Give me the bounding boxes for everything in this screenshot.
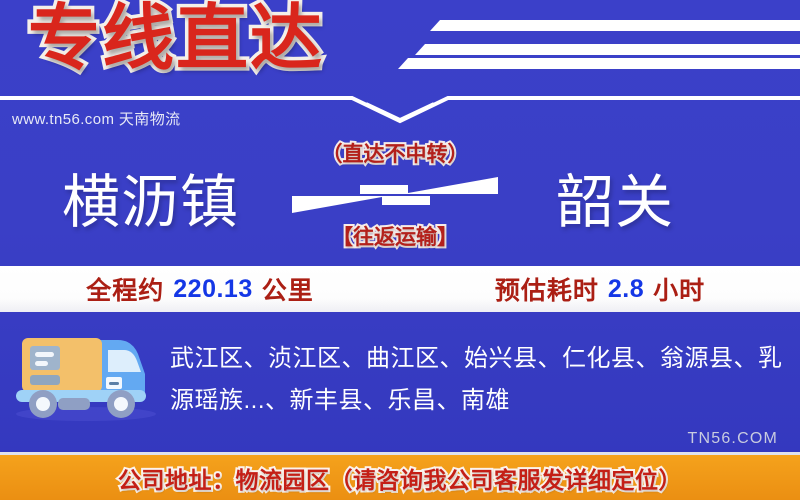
duration-value: 2.8 <box>608 275 644 304</box>
coverage-section: 武江区、浈江区、曲江区、始兴县、仁化县、翁源县、乳源瑶族...、新丰县、乐昌、南… <box>0 312 800 455</box>
double-arrow-icon <box>290 171 500 219</box>
distance-label: 全程约 <box>86 271 164 307</box>
destination-city: 韶关 <box>556 155 674 239</box>
logistics-route-banner: 专线直达 www.tn56.com 天南物流 横沥镇 （直达不中转） 【往返运输… <box>0 0 800 500</box>
distance-value: 220.13 <box>173 275 252 304</box>
delivery-truck-icon <box>8 322 163 422</box>
stripe-3 <box>398 58 800 69</box>
decorative-stripes <box>370 8 800 88</box>
stripe-1 <box>430 20 800 31</box>
distance-unit: 公里 <box>262 271 314 307</box>
coverage-districts: 武江区、浈江区、曲江区、始兴县、仁化县、翁源县、乳源瑶族...、新丰县、乐昌、南… <box>170 338 790 422</box>
roundtrip-tagline: 【往返运输】 <box>290 221 500 251</box>
watermark-label: TN56.COM <box>688 430 779 448</box>
website-label: www.tn56.com 天南物流 <box>12 108 181 129</box>
stats-band: 全程约 220.13 公里 预估耗时 2.8 小时 <box>0 266 800 312</box>
route-section: 横沥镇 （直达不中转） 【往返运输】 韶关 <box>0 130 800 264</box>
distance-stat: 全程约 220.13 公里 <box>0 266 400 312</box>
stripe-2 <box>415 44 800 55</box>
headline-title: 专线直达 <box>28 2 324 78</box>
origin-city: 横沥镇 <box>62 155 239 239</box>
banner-header: 专线直达 www.tn56.com 天南物流 <box>0 0 800 128</box>
direct-route-tagline: （直达不中转） <box>290 138 500 168</box>
company-address: 公司地址：物流园区（请咨询我公司客服发详细定位） <box>118 461 682 495</box>
duration-unit: 小时 <box>653 271 705 307</box>
duration-stat: 预估耗时 2.8 小时 <box>400 266 800 312</box>
duration-label: 预估耗时 <box>495 271 599 307</box>
footer-bar: 公司地址：物流园区（请咨询我公司客服发详细定位） <box>0 455 800 500</box>
route-middle: （直达不中转） 【往返运输】 <box>290 138 500 251</box>
